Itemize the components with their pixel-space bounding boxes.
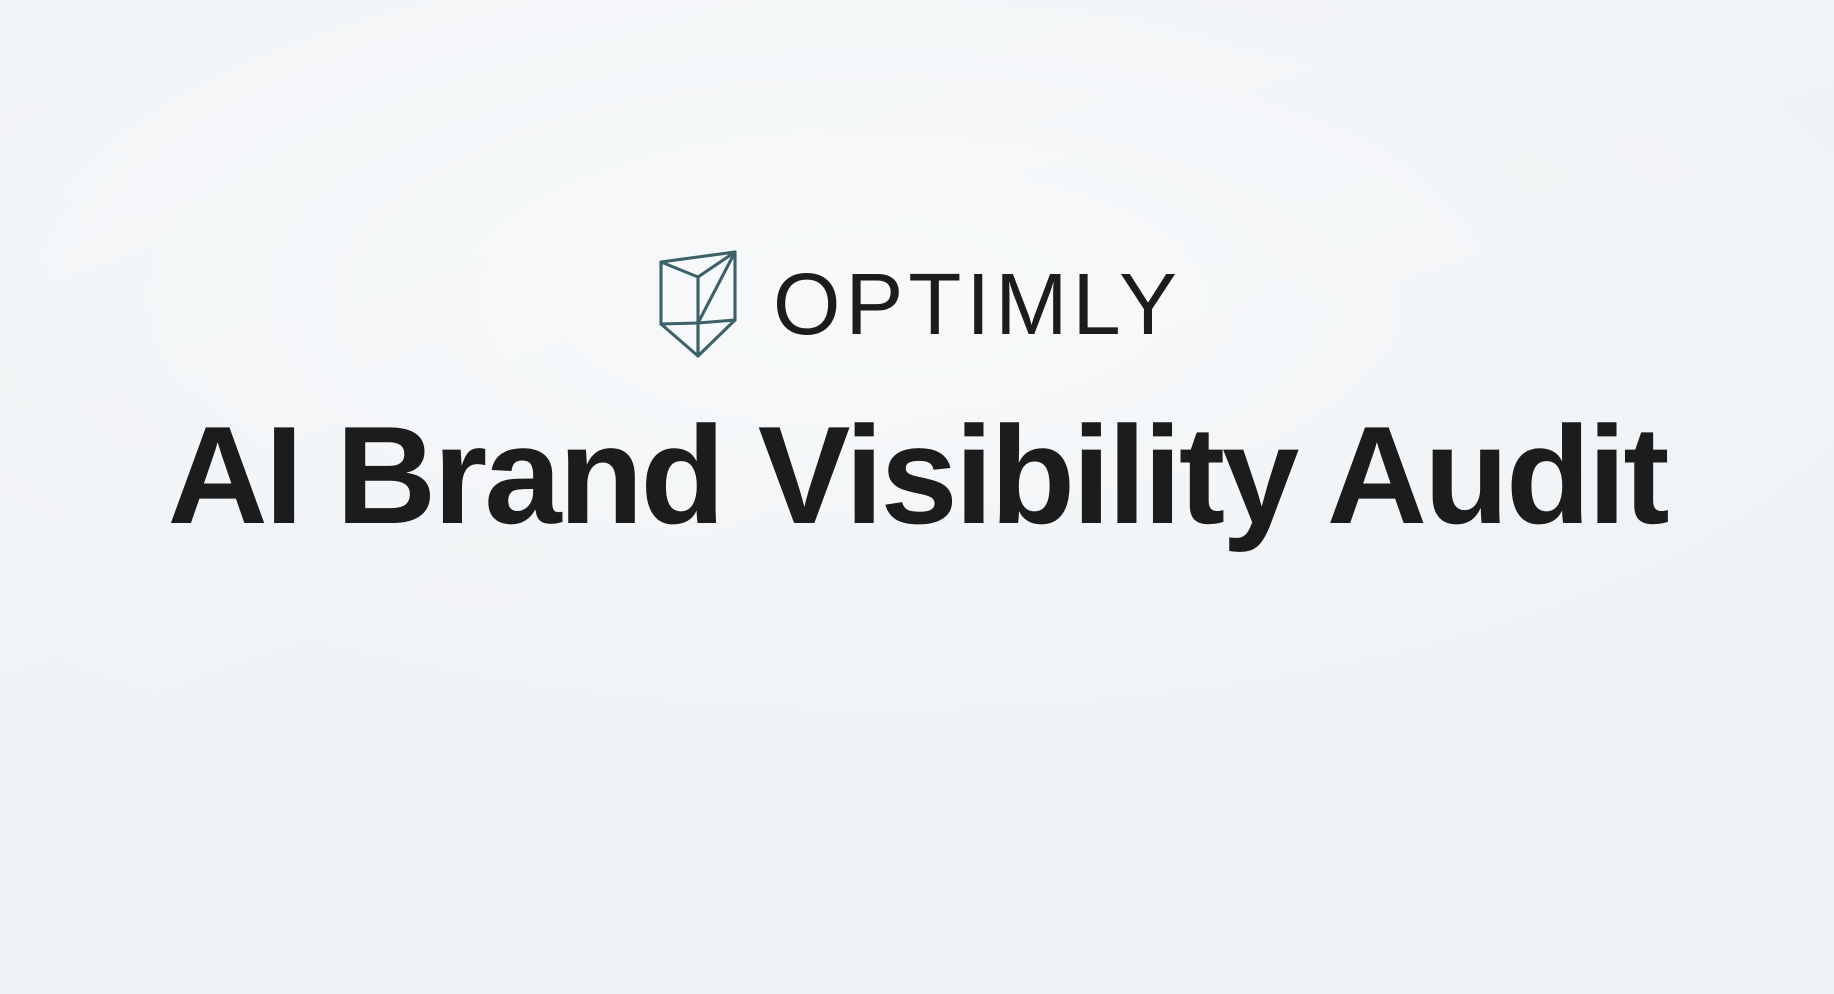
title-slide: OPTIMLY AI Brand Visibility Audit: [0, 0, 1834, 994]
triangular-prism-wireframe-logo-mark: [657, 248, 739, 360]
brand-wordmark: OPTIMLY: [773, 261, 1182, 348]
page-title: AI Brand Visibility Audit: [0, 402, 1834, 549]
brand-lockup: OPTIMLY: [0, 244, 1834, 364]
